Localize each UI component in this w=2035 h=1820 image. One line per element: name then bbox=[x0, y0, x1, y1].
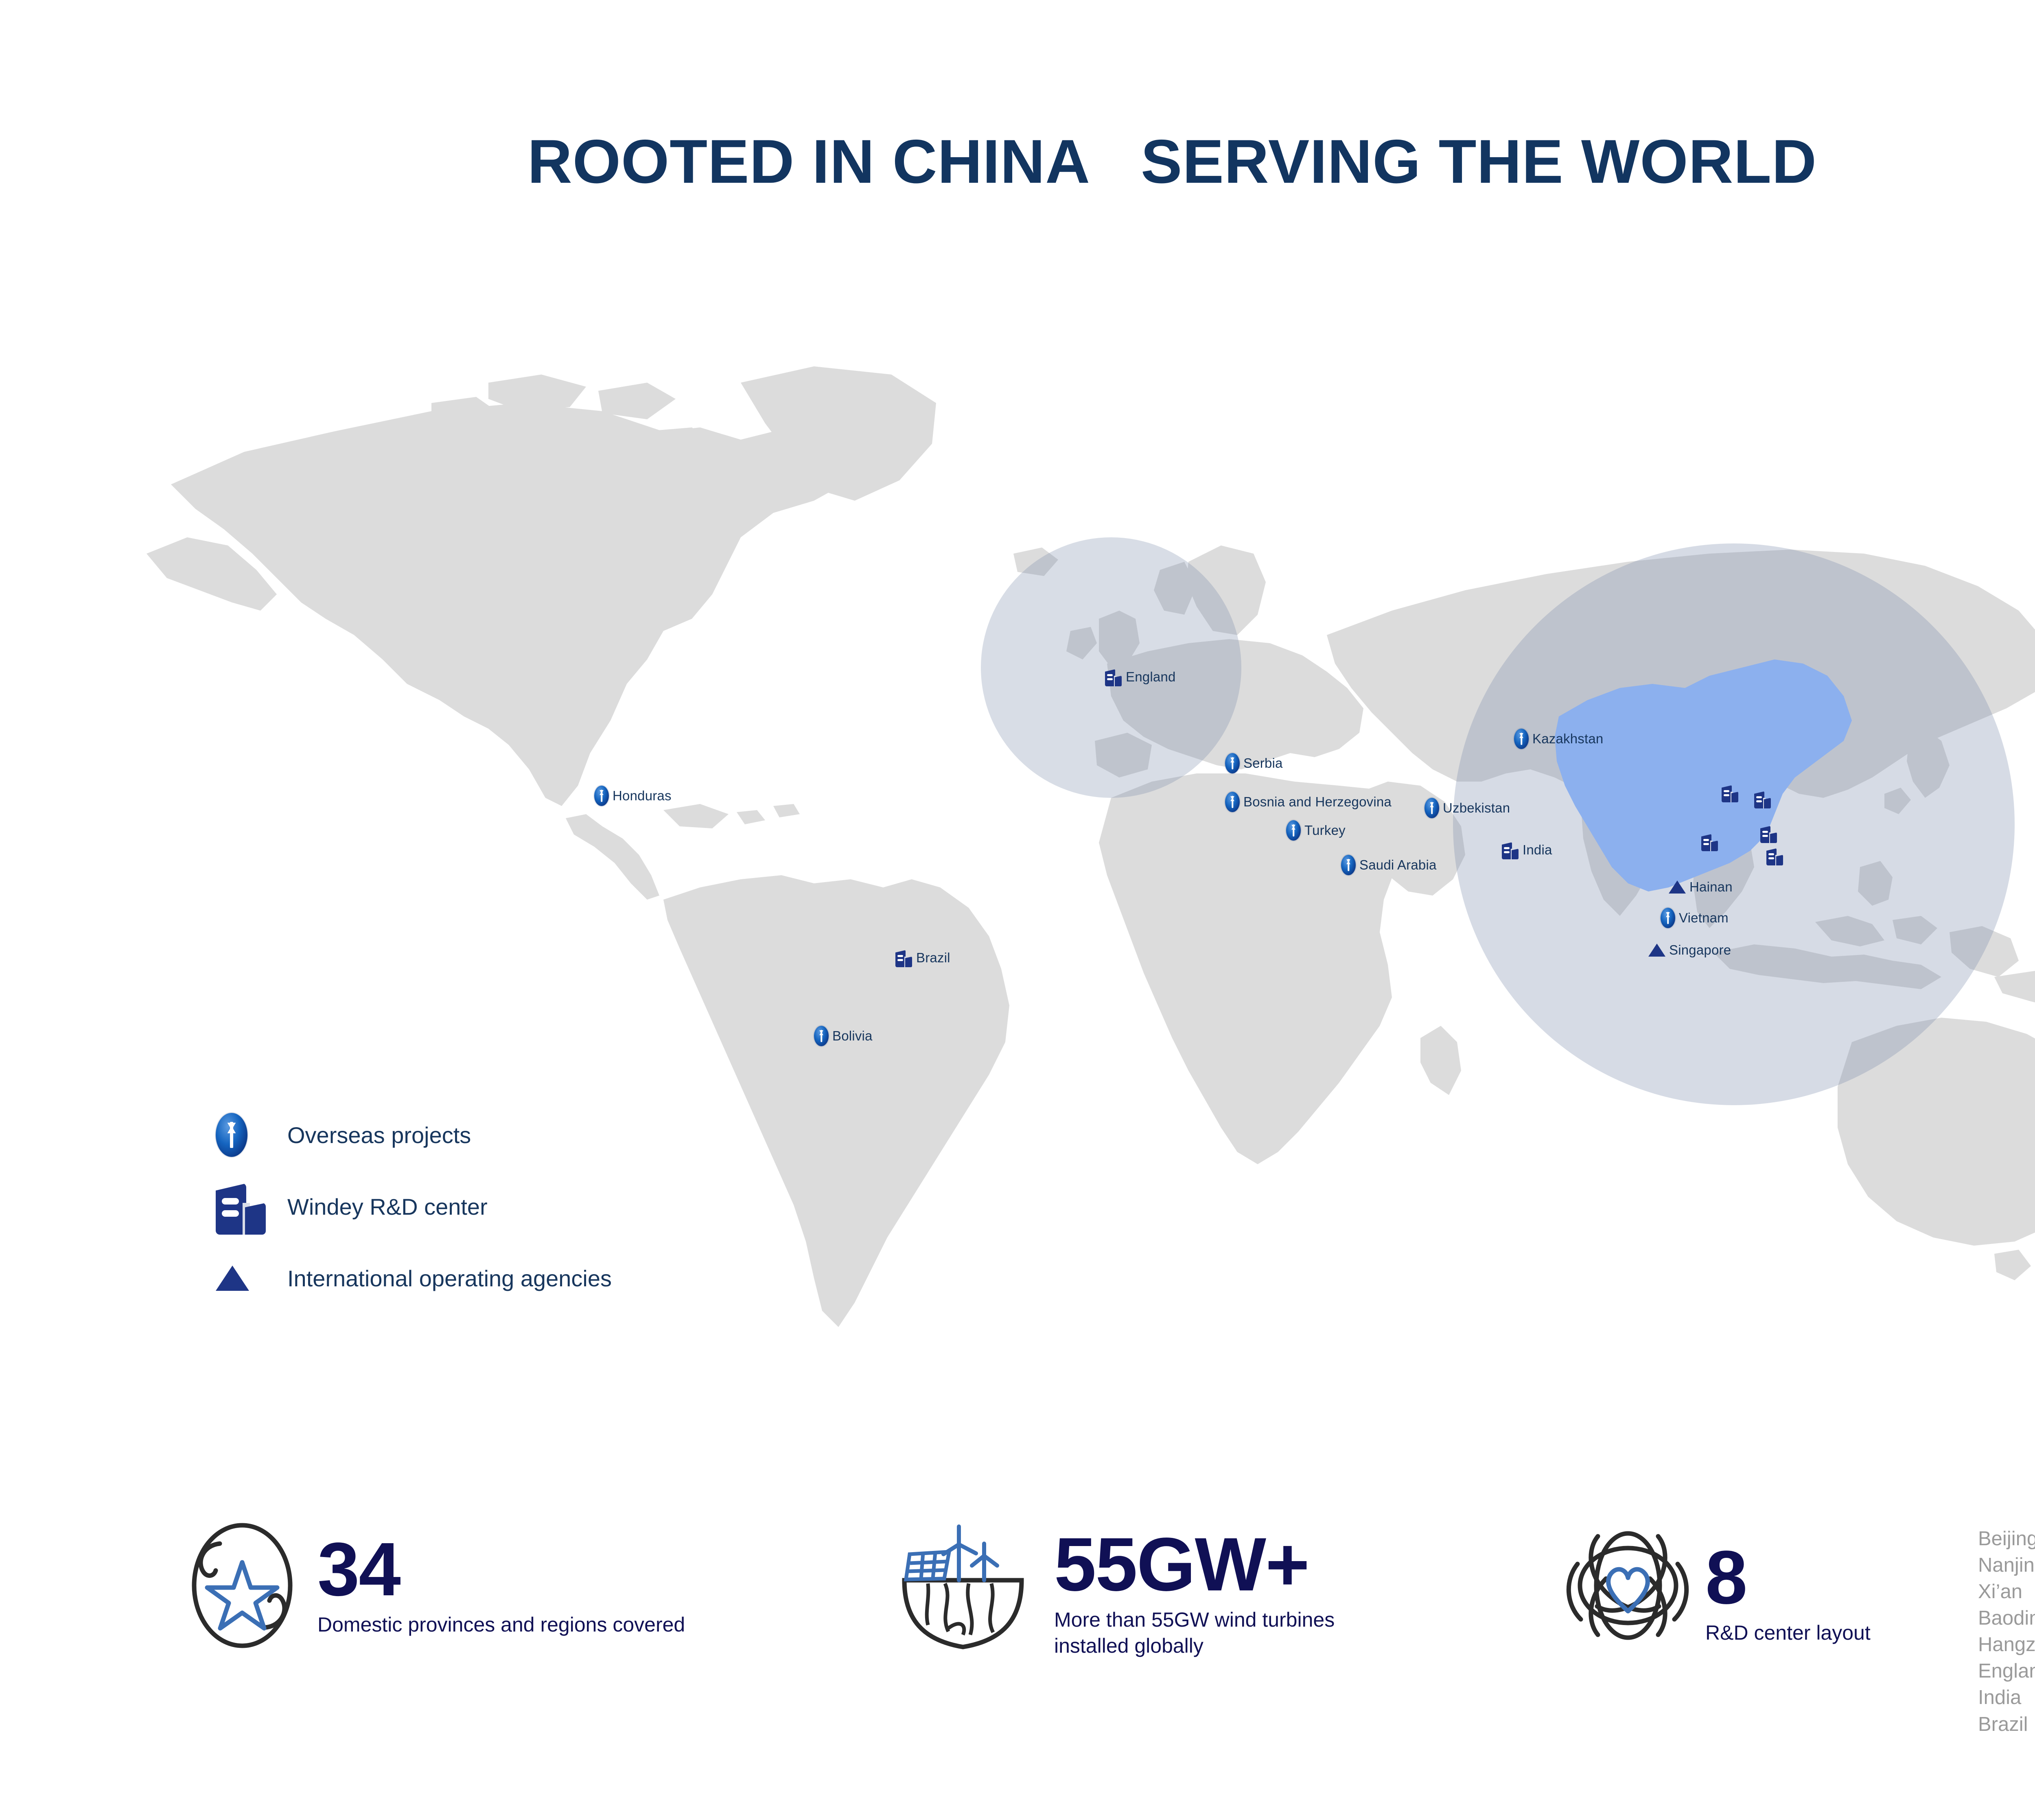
map-marker-label: Bosnia and Herzegovina bbox=[1243, 794, 1392, 810]
map-marker-india[interactable]: India bbox=[1502, 841, 1552, 859]
rd-center-row: BeijingOffshore wind power bbox=[1978, 1529, 2035, 1550]
rd-center-row: HangzhouR&D headquarters bbox=[1978, 1634, 2035, 1656]
building-icon bbox=[1760, 824, 1777, 843]
statistics-section: 34 Domestic provinces and regions covere… bbox=[175, 1518, 1966, 1730]
rd-center-city: India bbox=[1978, 1687, 2035, 1708]
turbine-icon bbox=[216, 1113, 247, 1157]
map-marker-hainan[interactable]: Hainan bbox=[1669, 879, 1733, 895]
rd-center-row: Xi’anPower electronics bbox=[1978, 1581, 2035, 1603]
legend-item-international-operating-agencies[interactable]: International operating agencies bbox=[216, 1242, 826, 1314]
legend-icon-slot bbox=[216, 1178, 277, 1235]
map-marker-singapore[interactable]: Singapore bbox=[1648, 942, 1731, 958]
rd-center-row: BrazilRenewable energy technologies（prep… bbox=[1978, 1714, 2035, 1753]
building-icon bbox=[1766, 847, 1783, 865]
stat-card-provinces: 34 Domestic provinces and regions covere… bbox=[175, 1518, 685, 1653]
map-marker-bosnia-and-herzegovina[interactable]: Bosnia and Herzegovina bbox=[1225, 792, 1392, 812]
map-marker-honduras[interactable]: Honduras bbox=[594, 786, 672, 806]
rd-center-row: EnglandAdvanced control bbox=[1978, 1661, 2035, 1682]
map-marker-china-rd[interactable] bbox=[1760, 824, 1777, 843]
map-marker-china-rd[interactable] bbox=[1722, 784, 1739, 802]
page-title: ROOTED IN CHINA SERVING THE WORLD bbox=[0, 126, 2035, 197]
map-marker-label: Brazil bbox=[916, 950, 950, 966]
infographic-page: ROOTED IN CHINA SERVING THE WORLD bbox=[0, 0, 2035, 1820]
stat-card-capacity: 55GW+ More than 55GW wind turbines insta… bbox=[887, 1518, 1335, 1659]
map-marker-england[interactable]: England bbox=[1105, 668, 1176, 686]
map-marker-kazakhstan[interactable]: Kazakhstan bbox=[1514, 729, 1603, 749]
building-icon bbox=[895, 948, 912, 967]
map-marker-label: Kazakhstan bbox=[1532, 731, 1603, 747]
building-icon bbox=[1701, 832, 1718, 851]
turbine-icon bbox=[1225, 753, 1240, 773]
map-marker-label: Turkey bbox=[1304, 823, 1346, 838]
rd-center-city: Baoding bbox=[1978, 1608, 2035, 1629]
rd-center-city: Nanjinig bbox=[1978, 1555, 2035, 1576]
atom-heart-icon bbox=[1559, 1518, 1697, 1653]
rd-center-row: BaodingAerodynamics bbox=[1978, 1608, 2035, 1629]
map-marker-china-rd[interactable] bbox=[1766, 847, 1783, 865]
turbine-icon bbox=[1514, 729, 1529, 749]
map-marker-turkey[interactable]: Turkey bbox=[1286, 820, 1346, 841]
rd-center-row: IndiaTechnical Cooperation bbox=[1978, 1687, 2035, 1708]
turbine-icon bbox=[1286, 820, 1301, 841]
stat-caption: R&D center layout bbox=[1705, 1620, 1871, 1646]
building-icon bbox=[1722, 784, 1739, 802]
rd-center-list: BeijingOffshore wind powerNanjinigEngine… bbox=[1978, 1529, 2035, 1759]
stat-number: 55GW+ bbox=[1054, 1530, 1335, 1599]
map-legend: Overseas projectsWindey R&D centerIntern… bbox=[216, 1099, 826, 1314]
map-marker-china-rd[interactable] bbox=[1754, 790, 1771, 808]
map-marker-label: Bolivia bbox=[832, 1028, 873, 1044]
map-marker-label: England bbox=[1126, 669, 1176, 685]
stat-number: 34 bbox=[317, 1535, 685, 1604]
map-marker-bolivia[interactable]: Bolivia bbox=[814, 1026, 873, 1046]
legend-item-overseas-projects[interactable]: Overseas projects bbox=[216, 1099, 826, 1171]
map-marker-saudi-arabia[interactable]: Saudi Arabia bbox=[1341, 855, 1437, 875]
legend-icon-slot bbox=[216, 1266, 277, 1291]
triangle-icon bbox=[1669, 880, 1686, 894]
rd-center-city: England bbox=[1978, 1661, 2035, 1682]
map-marker-brazil[interactable]: Brazil bbox=[895, 948, 950, 967]
map-marker-uzbekistan[interactable]: Uzbekistan bbox=[1424, 798, 1510, 818]
triangle-icon bbox=[216, 1266, 249, 1291]
building-icon bbox=[1105, 668, 1122, 686]
rd-center-city: Xi’an bbox=[1978, 1581, 2035, 1603]
map-marker-china-rd[interactable] bbox=[1701, 832, 1718, 851]
triangle-icon bbox=[1648, 944, 1665, 957]
legend-item-label: Windey R&D center bbox=[287, 1194, 488, 1220]
rd-center-city: Beijing bbox=[1978, 1529, 2035, 1550]
legend-item-windey-r-d-center[interactable]: Windey R&D center bbox=[216, 1171, 826, 1242]
turbine-icon bbox=[1424, 798, 1439, 818]
legend-icon-slot bbox=[216, 1113, 277, 1157]
map-marker-label: Honduras bbox=[613, 788, 672, 804]
map-marker-label: Singapore bbox=[1669, 942, 1731, 958]
stat-caption: More than 55GW wind turbines installed g… bbox=[1054, 1607, 1335, 1659]
turbine-icon bbox=[1661, 908, 1675, 928]
map-marker-label: Serbia bbox=[1243, 756, 1283, 771]
rd-center-city: Brazil bbox=[1978, 1714, 2035, 1735]
legend-item-label: Overseas projects bbox=[287, 1122, 471, 1148]
stat-caption: Domestic provinces and regions covered bbox=[317, 1612, 685, 1638]
map-marker-vietnam[interactable]: Vietnam bbox=[1661, 908, 1729, 928]
building-icon bbox=[216, 1178, 267, 1235]
map-marker-label: Uzbekistan bbox=[1443, 800, 1510, 816]
map-marker-label: India bbox=[1523, 842, 1552, 858]
stat-number: 8 bbox=[1705, 1543, 1871, 1612]
globe-star-icon bbox=[175, 1518, 309, 1653]
rd-center-city: Hangzhou bbox=[1978, 1634, 2035, 1656]
turbine-icon bbox=[814, 1026, 829, 1046]
rd-center-row: NanjinigEngineering technology bbox=[1978, 1555, 2035, 1576]
legend-item-label: International operating agencies bbox=[287, 1265, 612, 1292]
building-icon bbox=[1502, 841, 1519, 859]
map-marker-label: Saudi Arabia bbox=[1359, 857, 1437, 873]
map-marker-label: Vietnam bbox=[1679, 910, 1729, 926]
turbine-icon bbox=[1341, 855, 1356, 875]
map-marker-serbia[interactable]: Serbia bbox=[1225, 753, 1283, 773]
map-marker-label: Hainan bbox=[1689, 879, 1733, 895]
building-icon bbox=[1754, 790, 1771, 808]
turbine-icon bbox=[594, 786, 609, 806]
turbine-icon bbox=[1225, 792, 1240, 812]
stat-card-rd-centers: 8 R&D center layout bbox=[1559, 1518, 1871, 1653]
renewables-icon bbox=[887, 1518, 1046, 1653]
